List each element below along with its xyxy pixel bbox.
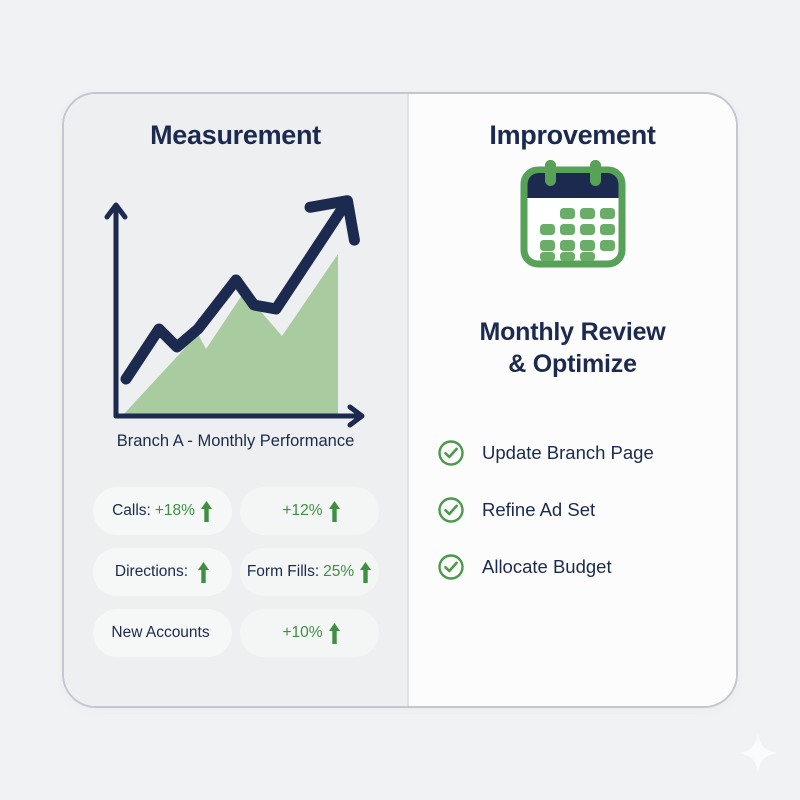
checklist-item-label: Update Branch Page bbox=[482, 442, 654, 464]
metric-pill-value: +12% bbox=[282, 502, 322, 520]
metric-pill-form-fills[interactable]: Form Fills: 25% bbox=[240, 548, 379, 596]
metric-pill-value: 25% bbox=[323, 563, 354, 581]
growth-line-chart bbox=[86, 184, 386, 434]
calendar-icon-wrap bbox=[409, 158, 736, 270]
metric-pill-row: Calls: +18% +12% bbox=[93, 487, 379, 535]
checklist-item-label: Allocate Budget bbox=[482, 556, 612, 578]
calendar-icon bbox=[512, 158, 634, 270]
improvement-checklist: Update Branch Page Refine Ad Set Allocat… bbox=[437, 439, 654, 581]
metric-pill-label: Calls: bbox=[112, 502, 151, 520]
improvement-panel: Improvement bbox=[409, 94, 736, 706]
measurement-panel: Measurement Branch A - Month bbox=[64, 94, 407, 706]
growth-line-chart-svg bbox=[86, 184, 386, 434]
check-circle-icon bbox=[437, 496, 465, 524]
metric-pill-directions[interactable]: Directions: bbox=[93, 548, 232, 596]
sparkle-icon bbox=[736, 731, 780, 775]
metric-pill-grid: Calls: +18% +12% bbox=[93, 487, 379, 657]
metric-pill-secondary-1[interactable]: +12% bbox=[240, 487, 379, 535]
checklist-item[interactable]: Update Branch Page bbox=[437, 439, 654, 467]
metric-pill-row: Directions: Form Fills: 25% bbox=[93, 548, 379, 596]
metric-pill-value: +10% bbox=[282, 624, 322, 642]
metric-pill-label: Form Fills: bbox=[247, 563, 319, 581]
chart-caption: Branch A - Monthly Performance bbox=[64, 432, 407, 451]
screenshot-canvas: Measurement Branch A - Month bbox=[0, 0, 800, 800]
metric-pill-calls[interactable]: Calls: +18% bbox=[93, 487, 232, 535]
arrow-up-icon bbox=[359, 561, 372, 584]
checklist-item[interactable]: Allocate Budget bbox=[437, 553, 654, 581]
metric-pill-value: +18% bbox=[155, 502, 195, 520]
arrow-up-icon bbox=[328, 500, 341, 523]
improvement-headline: Monthly Review & Optimize bbox=[409, 316, 736, 380]
check-circle-icon bbox=[437, 553, 465, 581]
checklist-item-label: Refine Ad Set bbox=[482, 499, 595, 521]
metric-pill-label: New Accounts bbox=[111, 624, 209, 642]
metric-pill-label: Directions: bbox=[115, 563, 188, 581]
arrow-up-icon bbox=[200, 500, 213, 523]
arrow-up-icon bbox=[328, 622, 341, 645]
comparison-card: Measurement Branch A - Month bbox=[62, 92, 738, 708]
check-circle-icon bbox=[437, 439, 465, 467]
improvement-panel-title: Improvement bbox=[409, 120, 736, 151]
metric-pill-secondary-2[interactable]: +10% bbox=[240, 609, 379, 657]
measurement-panel-title: Measurement bbox=[64, 120, 407, 151]
metric-pill-new-accounts[interactable]: New Accounts bbox=[93, 609, 232, 657]
improvement-headline-line2: & Optimize bbox=[409, 348, 736, 380]
arrow-up-icon bbox=[197, 561, 210, 584]
checklist-item[interactable]: Refine Ad Set bbox=[437, 496, 654, 524]
metric-pill-row: New Accounts +10% bbox=[93, 609, 379, 657]
improvement-headline-line1: Monthly Review bbox=[409, 316, 736, 348]
